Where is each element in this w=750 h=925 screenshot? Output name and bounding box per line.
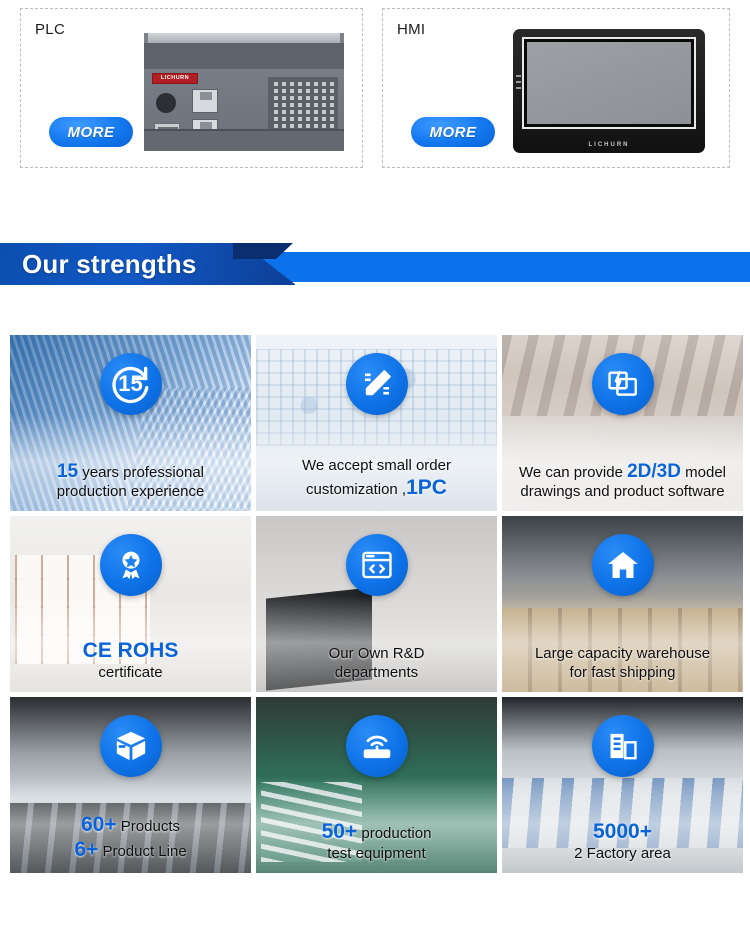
caption-text: years professional	[78, 464, 204, 481]
caption-line: test equipment	[262, 845, 491, 863]
product-card-title: PLC	[35, 21, 65, 38]
strength-cell[interactable]: We accept small ordercustomization ,1PC	[256, 335, 497, 511]
drawing-layers-icon	[592, 353, 654, 415]
product-card-row: PLC LICHURN MORE HMI LICHURN MORE	[0, 0, 750, 180]
caption-text: 2 Factory area	[574, 845, 671, 862]
caption-highlight: 2D/3D	[627, 461, 681, 482]
caption-line: CE ROHS	[16, 638, 245, 664]
caption-line: 60+ Products	[16, 812, 245, 838]
caption-highlight: CE ROHS	[83, 639, 179, 662]
strength-cell[interactable]: 1515 years professionalproduction experi…	[10, 335, 251, 511]
plc-brand-text: LICHURN	[153, 74, 197, 83]
caption-highlight: 60+	[81, 813, 117, 836]
more-button-plc[interactable]: MORE	[49, 117, 133, 147]
caption-text: Product Line	[98, 843, 186, 860]
plc-ethernet-port-icon	[192, 89, 218, 113]
caption-line: Our Own R&D	[262, 645, 491, 663]
plc-brand-label: LICHURN	[152, 73, 198, 84]
caption-text: We can provide	[519, 464, 627, 481]
caption-text: production	[357, 825, 431, 842]
plc-knob-icon	[156, 93, 176, 113]
caption-text: Products	[117, 818, 180, 835]
caption-line: for fast shipping	[508, 664, 737, 682]
product-card-title: HMI	[397, 21, 425, 38]
strength-cell[interactable]: 5000+2 Factory area	[502, 697, 743, 873]
hmi-screen	[527, 42, 691, 124]
clock-15-badge-icon: 15	[100, 353, 162, 415]
code-window-icon	[346, 534, 408, 596]
plc-device-image: LICHURN	[144, 33, 344, 151]
product-card-plc[interactable]: PLC LICHURN MORE	[20, 8, 363, 168]
caption-text: production experience	[57, 483, 205, 500]
product-card-hmi[interactable]: HMI LICHURN MORE	[382, 8, 730, 168]
caption-highlight: 5000+	[593, 820, 652, 843]
strength-cell[interactable]: Large capacity warehousefor fast shippin…	[502, 516, 743, 692]
caption-line: We can provide 2D/3D model	[508, 460, 737, 483]
caption-text: Our Own R&D	[329, 645, 425, 662]
caption-text: We accept small order	[302, 457, 451, 474]
caption-highlight: 15	[57, 461, 78, 482]
caption-line: customization ,1PC	[262, 475, 491, 501]
caption-line: We accept small order	[262, 457, 491, 475]
pencil-edit-icon	[346, 353, 408, 415]
strength-caption: 5000+2 Factory area	[508, 819, 737, 863]
strength-caption: We can provide 2D/3D modeldrawings and p…	[508, 460, 737, 501]
strength-caption: CE ROHScertificate	[16, 638, 245, 682]
section-title: Our strengths	[22, 240, 197, 288]
caption-line: drawings and product software	[508, 483, 737, 501]
caption-line: departments	[262, 664, 491, 682]
strength-caption: 15 years professionalproduction experien…	[16, 460, 245, 501]
section-banner: Our strengths	[0, 240, 750, 288]
more-button-hmi[interactable]: MORE	[411, 117, 495, 147]
caption-line: production experience	[16, 483, 245, 501]
caption-line: 50+ production	[262, 819, 491, 845]
caption-text: test equipment	[327, 845, 425, 862]
caption-highlight: 6+	[74, 838, 98, 861]
strength-caption: 50+ productiontest equipment	[262, 819, 491, 863]
home-warehouse-icon	[592, 534, 654, 596]
caption-text: model	[681, 464, 726, 481]
strength-caption: Our Own R&Ddepartments	[262, 645, 491, 682]
caption-line: certificate	[16, 664, 245, 682]
caption-text: departments	[335, 664, 418, 681]
strength-caption: 60+ Products6+ Product Line	[16, 812, 245, 863]
strength-cell[interactable]: CE ROHScertificate	[10, 516, 251, 692]
strength-cell[interactable]: 60+ Products6+ Product Line	[10, 697, 251, 873]
strengths-grid: 1515 years professionalproduction experi…	[10, 335, 743, 873]
caption-highlight: 1PC	[406, 476, 447, 499]
caption-text: for fast shipping	[570, 664, 676, 681]
building-factory-icon	[592, 715, 654, 777]
strength-caption: Large capacity warehousefor fast shippin…	[508, 645, 737, 682]
caption-line: 15 years professional	[16, 460, 245, 483]
caption-line: 5000+	[508, 819, 737, 845]
hmi-brand-text: LICHURN	[513, 142, 705, 148]
hmi-device-image: LICHURN	[513, 29, 705, 153]
caption-line: 2 Factory area	[508, 845, 737, 863]
strength-cell[interactable]: Our Own R&Ddepartments	[256, 516, 497, 692]
caption-text: customization ,	[306, 481, 406, 498]
caption-text: certificate	[98, 664, 162, 681]
router-signal-icon	[346, 715, 408, 777]
package-box-icon	[100, 715, 162, 777]
strength-cell[interactable]: 50+ productiontest equipment	[256, 697, 497, 873]
hmi-led-indicators	[516, 75, 521, 93]
strength-cell[interactable]: We can provide 2D/3D modeldrawings and p…	[502, 335, 743, 511]
caption-text: drawings and product software	[520, 483, 724, 500]
caption-text: Large capacity warehouse	[535, 645, 710, 662]
strength-caption: We accept small ordercustomization ,1PC	[262, 457, 491, 501]
caption-highlight: 50+	[322, 820, 358, 843]
award-medal-icon	[100, 534, 162, 596]
caption-line: Large capacity warehouse	[508, 645, 737, 663]
caption-line: 6+ Product Line	[16, 837, 245, 863]
